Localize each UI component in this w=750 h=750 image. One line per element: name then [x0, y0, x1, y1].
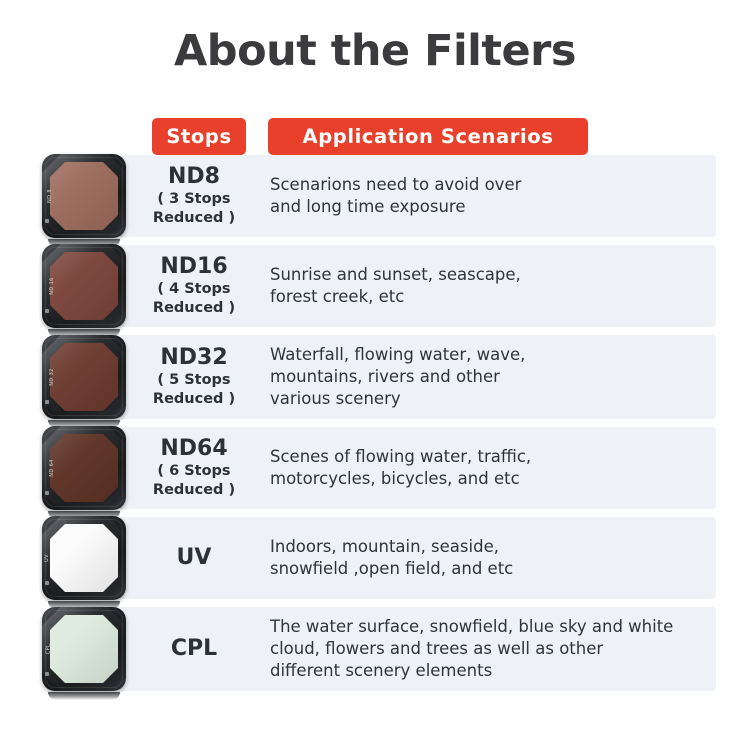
filter-name: CPL [171, 637, 217, 660]
stops-sub-line-2: Reduced ) [153, 390, 235, 408]
table-row: CPL CPL The water surface, snowfield, bl… [118, 607, 716, 691]
stops-cell: ND8 ( 3 Stops Reduced ) [118, 155, 270, 237]
filter-side-label: CPL [45, 644, 51, 655]
filter-name: ND8 [168, 165, 220, 188]
description-cell: Sunrise and sunset, seascape, forest cre… [270, 245, 710, 327]
description-cell: Scenes of flowing water, traffic, motorc… [270, 427, 710, 509]
header-badge-stops: Stops [152, 118, 246, 155]
stops-cell: CPL [118, 607, 270, 691]
description-cell: Scenarions need to avoid over and long t… [270, 155, 710, 237]
description-cell: Indoors, mountain, seaside, snowfield ,o… [270, 517, 710, 599]
stops-sub-line-2: Reduced ) [153, 481, 235, 499]
filter-glass [50, 615, 118, 683]
desc-line-1: Waterfall, flowing water, wave, [270, 344, 710, 366]
desc-line-3: different scenery elements [270, 660, 710, 682]
stops-cell: ND32 ( 5 Stops Reduced ) [118, 335, 270, 419]
desc-line-2: forest creek, etc [270, 286, 710, 308]
filter-stops-sub: ( 4 Stops Reduced ) [153, 280, 235, 316]
stops-sub-line-2: Reduced ) [153, 209, 235, 227]
table-row: ND 64 ND64 ( 6 Stops Reduced ) Scenes of… [118, 427, 716, 509]
stops-sub-line-1: ( 5 Stops [153, 371, 235, 389]
desc-line-1: Indoors, mountain, seaside, [270, 536, 710, 558]
stops-cell: UV [118, 517, 270, 599]
desc-line-2: mountains, rivers and other [270, 366, 710, 388]
filters-table: ND 8 ND8 ( 3 Stops Reduced ) Scenarions … [118, 155, 716, 699]
filter-side-dot [45, 400, 49, 404]
filter-shadow [48, 692, 120, 700]
filter-name: ND32 [160, 346, 227, 369]
filter-side-dot [45, 219, 49, 223]
filter-glass [50, 162, 118, 230]
table-row: UV UV Indoors, mountain, seaside, snowfi… [118, 517, 716, 599]
filter-stops-sub: ( 5 Stops Reduced ) [153, 371, 235, 407]
filter-product-image: ND 8 [42, 154, 126, 238]
desc-line-2: snowfield ,open field, and etc [270, 558, 710, 580]
description-cell: The water surface, snowfield, blue sky a… [270, 607, 710, 691]
desc-line-1: Sunrise and sunset, seascape, [270, 264, 710, 286]
filter-stops-sub: ( 3 Stops Reduced ) [153, 190, 235, 226]
filter-side-dot [45, 309, 49, 313]
desc-line-2: and long time exposure [270, 196, 710, 218]
filter-name: ND64 [160, 437, 227, 460]
filter-stops-sub: ( 6 Stops Reduced ) [153, 462, 235, 498]
stops-sub-line-1: ( 4 Stops [153, 280, 235, 298]
filter-side-label: ND 8 [47, 189, 53, 203]
filter-product-image: UV [42, 516, 126, 600]
filter-glass [50, 252, 118, 320]
description-cell: Waterfall, flowing water, wave, mountain… [270, 335, 710, 419]
table-row: ND 32 ND32 ( 5 Stops Reduced ) Waterfall… [118, 335, 716, 419]
filter-glass [50, 343, 118, 411]
filter-side-dot [45, 491, 49, 495]
filter-side-dot [45, 581, 49, 585]
stops-sub-line-2: Reduced ) [153, 299, 235, 317]
desc-line-2: motorcycles, bicycles, and etc [270, 468, 710, 490]
desc-line-2: cloud, flowers and trees as well as othe… [270, 638, 710, 660]
filter-side-dot [45, 672, 49, 676]
filter-side-label: ND 64 [49, 459, 55, 477]
header-badge-scenarios: Application Scenarios [268, 118, 588, 155]
filter-product-image: ND 64 [42, 426, 126, 510]
filter-glass [50, 524, 118, 592]
desc-line-1: Scenarions need to avoid over [270, 174, 710, 196]
filter-side-label: UV [44, 554, 50, 562]
desc-line-3: various scenery [270, 388, 710, 410]
desc-line-1: The water surface, snowfield, blue sky a… [270, 616, 710, 638]
stops-sub-line-1: ( 6 Stops [153, 462, 235, 480]
page-title: About the Filters [0, 26, 750, 76]
table-row: ND 16 ND16 ( 4 Stops Reduced ) Sunrise a… [118, 245, 716, 327]
filter-name: UV [177, 546, 212, 569]
stops-cell: ND64 ( 6 Stops Reduced ) [118, 427, 270, 509]
desc-line-1: Scenes of flowing water, traffic, [270, 446, 710, 468]
filter-side-label: ND 16 [49, 277, 55, 295]
filter-product-image: ND 32 [42, 335, 126, 419]
filter-name: ND16 [160, 255, 227, 278]
stops-cell: ND16 ( 4 Stops Reduced ) [118, 245, 270, 327]
filter-side-label: ND 32 [49, 368, 55, 386]
filter-product-image: CPL [42, 607, 126, 691]
table-row: ND 8 ND8 ( 3 Stops Reduced ) Scenarions … [118, 155, 716, 237]
stops-sub-line-1: ( 3 Stops [153, 190, 235, 208]
filter-glass [50, 434, 118, 502]
filter-product-image: ND 16 [42, 244, 126, 328]
